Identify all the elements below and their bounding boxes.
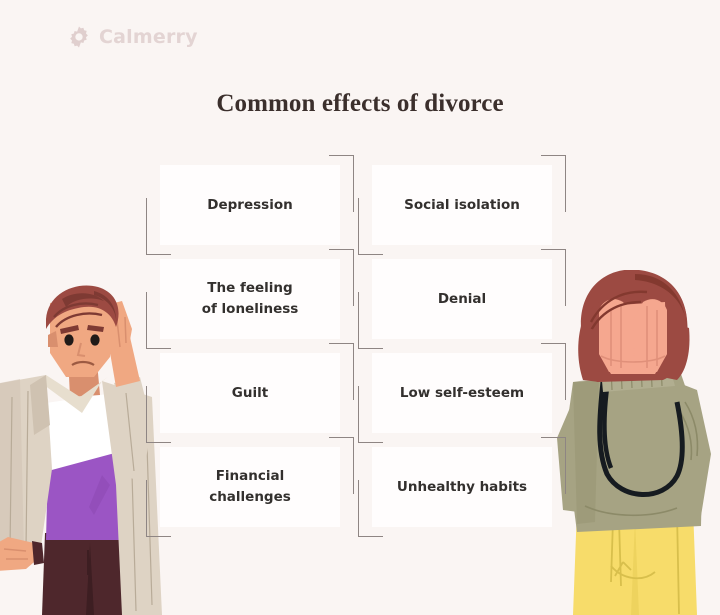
effect-card-denial[interactable]: Denial (372, 259, 552, 339)
effect-cell: Financial challenges (160, 447, 340, 527)
effects-grid: Depression The feeling of loneliness Gui… (160, 165, 560, 530)
effect-card-low-self-esteem[interactable]: Low self-esteem (372, 353, 552, 433)
effect-label: The feeling of loneliness (202, 278, 299, 320)
effect-label: Social isolation (404, 195, 520, 216)
effect-cell: Guilt (160, 353, 340, 433)
effect-cell: Low self-esteem (372, 353, 552, 433)
effect-cell: Social isolation (372, 165, 552, 245)
effect-label: Low self-esteem (400, 383, 524, 404)
effect-label: Guilt (232, 383, 268, 404)
effect-card-financial-challenges[interactable]: Financial challenges (160, 447, 340, 527)
effect-label: Denial (438, 289, 486, 310)
effect-cell: Depression (160, 165, 340, 245)
effect-card-depression[interactable]: Depression (160, 165, 340, 245)
effect-cell: Unhealthy habits (372, 447, 552, 527)
effect-cell: Denial (372, 259, 552, 339)
effect-label: Unhealthy habits (397, 477, 527, 498)
brand-name: Calmerry (99, 28, 198, 47)
brand-logo: Calmerry (68, 26, 198, 48)
effect-label: Financial challenges (209, 466, 291, 508)
infographic-canvas: Calmerry Common effects of divorce (0, 0, 720, 615)
crying-woman-illustration (551, 270, 720, 615)
effect-card-loneliness[interactable]: The feeling of loneliness (160, 259, 340, 339)
effect-label: Depression (207, 195, 292, 216)
effect-card-guilt[interactable]: Guilt (160, 353, 340, 433)
effect-card-social-isolation[interactable]: Social isolation (372, 165, 552, 245)
effect-cell: The feeling of loneliness (160, 259, 340, 339)
flower-gear-icon (68, 26, 90, 48)
effect-card-unhealthy-habits[interactable]: Unhealthy habits (372, 447, 552, 527)
page-title: Common effects of divorce (0, 90, 720, 118)
